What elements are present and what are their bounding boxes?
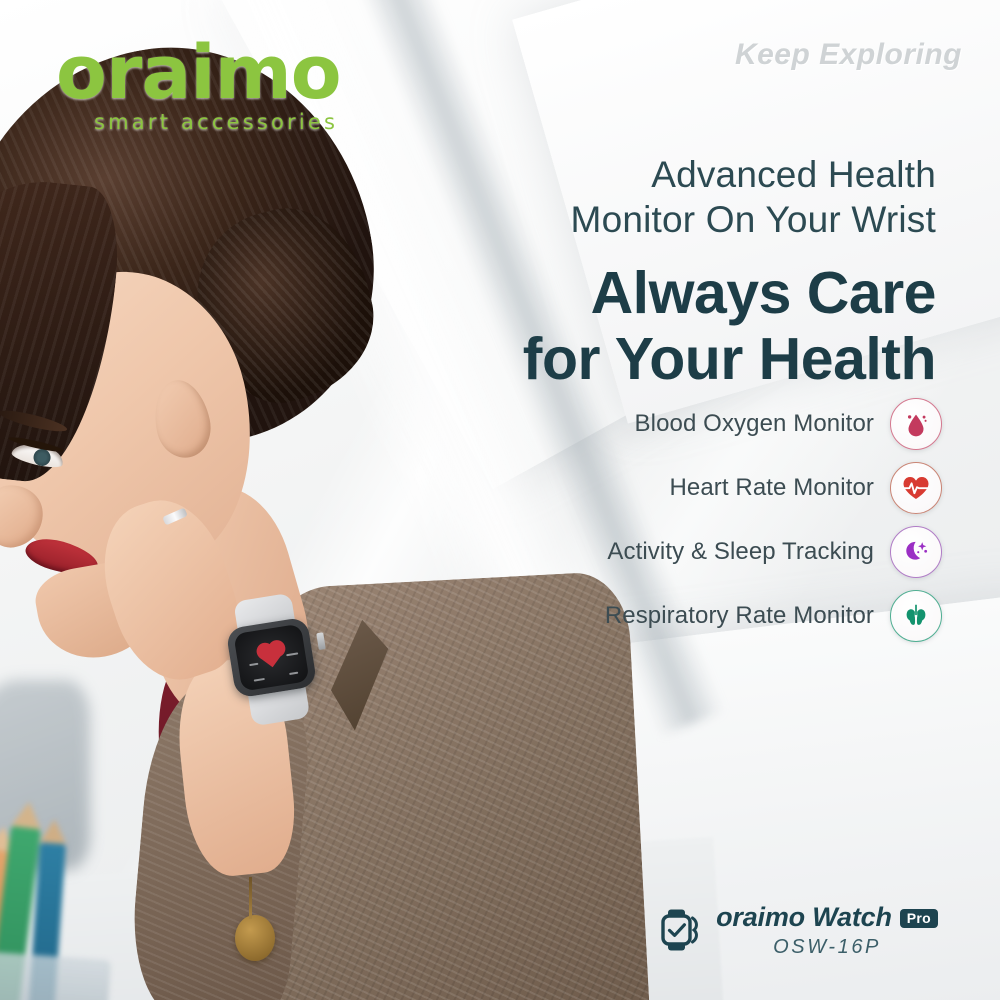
feature-label: Heart Rate Monitor	[669, 474, 874, 502]
feature-item-activity-sleep: Activity & Sleep Tracking	[522, 520, 942, 584]
blood-drop-icon	[890, 398, 942, 450]
screen-detail	[254, 678, 265, 682]
advertisement-canvas: oraimo smart accessories Keep Exploring …	[0, 0, 1000, 1000]
headline-block: Advanced Health Monitor On Your Wrist Al…	[376, 152, 936, 392]
logo-tagline: smart accessories	[94, 110, 356, 134]
lungs-icon	[890, 590, 942, 642]
product-name-row: oraimo Watch Pro	[716, 902, 938, 932]
feature-list: Blood Oxygen Monitor Heart Rate Monitor	[522, 392, 942, 648]
moon-stars-icon	[890, 526, 942, 578]
headline-line-1: Always Care	[376, 260, 936, 326]
colored-pencils	[0, 805, 190, 1000]
pencil-cup	[0, 950, 111, 1000]
smartwatch-on-wrist	[221, 611, 331, 723]
screen-detail	[286, 652, 298, 656]
logo-wordmark: oraimo	[56, 38, 356, 108]
feature-label: Respiratory Rate Monitor	[605, 602, 874, 630]
feature-item-respiratory-rate: Respiratory Rate Monitor	[522, 584, 942, 648]
pendant-necklace	[235, 915, 275, 961]
screen-detail	[249, 663, 258, 666]
smartwatch-check-icon	[658, 905, 704, 955]
product-badge: oraimo Watch Pro OSW-16P	[658, 902, 938, 958]
product-text: oraimo Watch Pro OSW-16P	[716, 902, 938, 958]
feature-label: Activity & Sleep Tracking	[607, 538, 874, 566]
feature-label: Blood Oxygen Monitor	[635, 410, 874, 438]
heart-icon	[260, 644, 283, 667]
product-tier-badge: Pro	[900, 909, 938, 929]
product-model: OSW-16P	[716, 936, 938, 958]
subheadline-line-2: Monitor On Your Wrist	[376, 197, 936, 242]
feature-item-blood-oxygen: Blood Oxygen Monitor	[522, 392, 942, 456]
headline-line-2: for Your Health	[376, 326, 936, 392]
brand-logo: oraimo smart accessories	[56, 38, 356, 134]
subheadline-line-1: Advanced Health	[376, 152, 936, 197]
feature-item-heart-rate: Heart Rate Monitor	[522, 456, 942, 520]
screen-detail	[289, 672, 298, 675]
product-name: oraimo Watch	[716, 902, 892, 932]
heart-pulse-icon	[890, 462, 942, 514]
watch-case	[226, 617, 318, 699]
watch-screen	[233, 624, 309, 692]
brand-slogan: Keep Exploring	[735, 38, 962, 72]
